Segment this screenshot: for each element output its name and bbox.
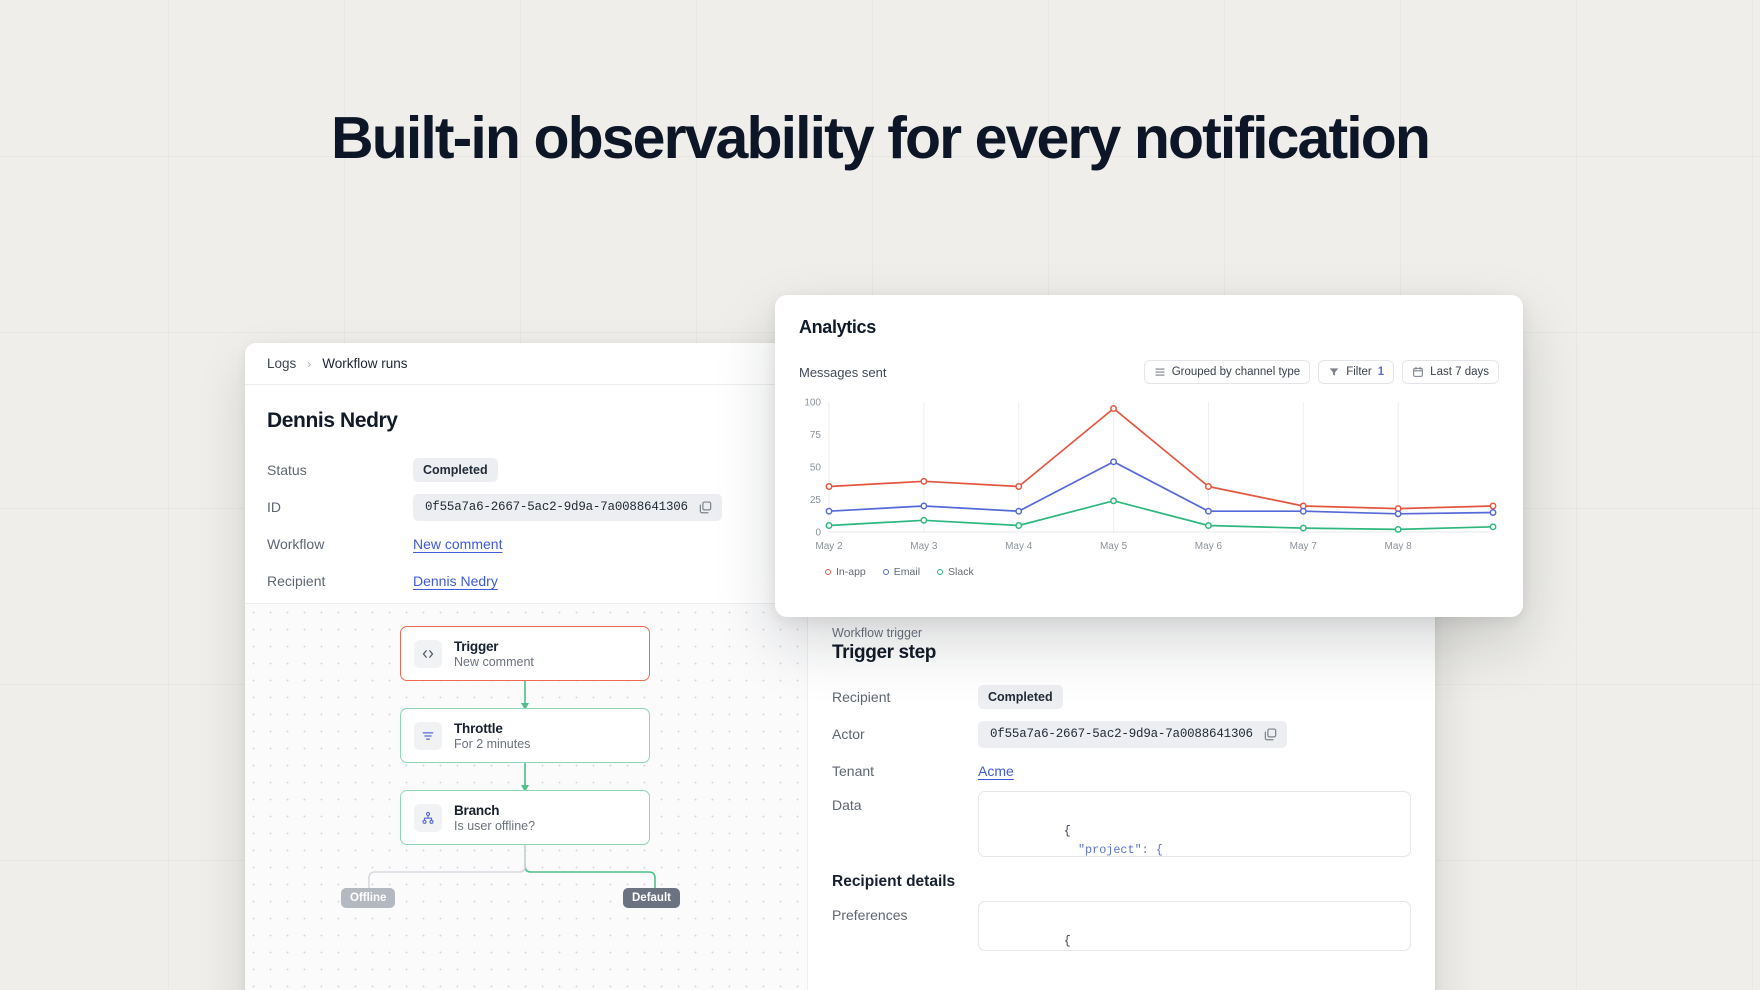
x-axis-tick: May 3 [910, 541, 938, 552]
data-json-line: "project": { [1064, 843, 1163, 857]
detail-field-recipient: Recipient Completed [832, 680, 1411, 714]
field-label: Recipient [267, 573, 413, 589]
messages-sent-line-chart[interactable]: 0255075100May 2May 3May 4May 5May 6May 7… [799, 392, 1499, 562]
workflow-node-throttle[interactable]: Throttle For 2 minutes [400, 708, 650, 763]
detail-field-data: Data { "project": { "name": "Security re… [832, 791, 1411, 857]
detail-field-actor: Actor 0f55a7a6-2667-5ac2-9d9a-7a00886413… [832, 717, 1411, 751]
field-label: Tenant [832, 763, 978, 779]
legend-item-email[interactable]: Email [883, 566, 920, 578]
step-detail-pane: Workflow trigger Trigger step Recipient … [808, 604, 1435, 990]
x-axis-tick: May 6 [1195, 541, 1223, 552]
node-subtitle: For 2 minutes [454, 737, 530, 751]
data-point[interactable] [1206, 509, 1211, 514]
legend-label: Slack [948, 566, 974, 578]
recipient-link[interactable]: Dennis Nedry [413, 573, 498, 589]
logs-split: Trigger New comment Throttle For 2 minut… [245, 603, 1435, 990]
workflow-canvas[interactable]: Trigger New comment Throttle For 2 minut… [245, 604, 808, 990]
analytics-card: Analytics Messages sent Grouped by chann… [775, 295, 1523, 617]
group-by-button[interactable]: Grouped by channel type [1144, 360, 1311, 384]
data-json-line: { [1064, 824, 1071, 838]
status-badge: Completed [978, 685, 1063, 709]
detail-title: Trigger step [832, 642, 1411, 664]
workflow-link[interactable]: New comment [413, 536, 502, 552]
data-point[interactable] [1016, 523, 1021, 528]
data-point[interactable] [1490, 510, 1495, 515]
date-range-button[interactable]: Last 7 days [1402, 360, 1499, 384]
data-point[interactable] [1206, 484, 1211, 489]
data-point[interactable] [921, 503, 926, 508]
copy-icon[interactable] [1263, 727, 1278, 742]
node-subtitle: New comment [454, 655, 534, 669]
branch-badge-default[interactable]: Default [623, 888, 680, 908]
data-point[interactable] [1016, 509, 1021, 514]
legend-label: Email [894, 566, 920, 578]
field-label: Recipient [832, 689, 978, 705]
series-line-slack [829, 501, 1493, 530]
branch-badge-offline[interactable]: Offline [341, 888, 395, 908]
y-axis-tick: 25 [810, 495, 822, 506]
date-range-label: Last 7 days [1430, 366, 1489, 378]
legend-dot [937, 569, 943, 575]
analytics-toolbar: Messages sent Grouped by channel type Fi… [799, 360, 1499, 384]
detail-eyebrow: Workflow trigger [832, 626, 1411, 640]
page-headline: Built-in observability for every notific… [0, 108, 1760, 170]
legend-label: In-app [836, 566, 866, 578]
filter-count: 1 [1378, 366, 1384, 378]
data-point[interactable] [1395, 527, 1400, 532]
node-title: Branch [454, 803, 535, 818]
legend-item-slack[interactable]: Slack [937, 566, 974, 578]
code-icon [414, 640, 442, 668]
data-point[interactable] [1111, 406, 1116, 411]
filter-icon [414, 722, 442, 750]
id-value-field[interactable]: 0f55a7a6-2667-5ac2-9d9a-7a0088641306 [413, 494, 722, 521]
data-point[interactable] [1301, 509, 1306, 514]
data-point[interactable] [1111, 498, 1116, 503]
analytics-title: Analytics [799, 317, 1499, 338]
list-icon [1154, 366, 1166, 378]
detail-field-tenant: Tenant Acme [832, 754, 1411, 788]
data-point[interactable] [826, 484, 831, 489]
group-by-label: Grouped by channel type [1172, 366, 1301, 378]
x-axis-tick: May 5 [1100, 541, 1128, 552]
recipient-details-title: Recipient details [832, 873, 1411, 891]
workflow-node-trigger[interactable]: Trigger New comment [400, 626, 650, 681]
x-axis-tick: May 8 [1385, 541, 1413, 552]
node-title: Trigger [454, 639, 534, 654]
actor-value: 0f55a7a6-2667-5ac2-9d9a-7a0088641306 [990, 727, 1253, 741]
field-label: ID [267, 499, 413, 515]
data-point[interactable] [1301, 525, 1306, 530]
series-line-in-app [829, 409, 1493, 509]
data-point[interactable] [1206, 523, 1211, 528]
data-point[interactable] [1490, 524, 1495, 529]
tenant-link[interactable]: Acme [978, 763, 1014, 779]
data-point[interactable] [921, 518, 926, 523]
node-subtitle: Is user offline? [454, 819, 535, 833]
preferences-json-block[interactable]: { "channel_types": { [978, 901, 1411, 951]
actor-value-field[interactable]: 0f55a7a6-2667-5ac2-9d9a-7a0088641306 [978, 721, 1287, 748]
toolbar-buttons: Grouped by channel type Filter 1 Last 7 … [1144, 360, 1499, 384]
branch-icon [414, 804, 442, 832]
filter-button[interactable]: Filter 1 [1318, 360, 1394, 384]
field-label: Preferences [832, 901, 978, 923]
data-point[interactable] [826, 509, 831, 514]
y-axis-tick: 75 [810, 430, 822, 441]
breadcrumb-workflow-runs[interactable]: Workflow runs [322, 356, 407, 371]
workflow-node-branch[interactable]: Branch Is user offline? [400, 790, 650, 845]
x-axis-tick: May 7 [1290, 541, 1318, 552]
legend-item-in-app[interactable]: In-app [825, 566, 866, 578]
status-badge: Completed [413, 458, 498, 482]
y-axis-tick: 100 [804, 398, 821, 409]
y-axis-tick: 0 [815, 528, 821, 539]
data-json-block[interactable]: { "project": { "name": "Security review"… [978, 791, 1411, 857]
chevron-right-icon: › [307, 357, 311, 371]
chart-legend: In-appEmailSlack [799, 566, 1499, 578]
data-point[interactable] [1111, 459, 1116, 464]
node-title: Throttle [454, 721, 530, 736]
field-label: Workflow [267, 536, 413, 552]
calendar-icon [1412, 366, 1424, 378]
chart-label: Messages sent [799, 365, 886, 380]
field-label: Data [832, 791, 978, 813]
chart-wrap: 0255075100May 2May 3May 4May 5May 6May 7… [799, 392, 1499, 562]
data-point[interactable] [1490, 503, 1495, 508]
legend-dot [883, 569, 889, 575]
field-label: Status [267, 462, 413, 478]
data-point[interactable] [1395, 511, 1400, 516]
filter-label: Filter [1346, 366, 1372, 378]
legend-dot [825, 569, 831, 575]
breadcrumb-logs[interactable]: Logs [267, 356, 296, 371]
funnel-icon [1328, 366, 1340, 378]
data-point[interactable] [921, 479, 926, 484]
y-axis-tick: 50 [810, 463, 822, 474]
x-axis-tick: May 4 [1005, 541, 1033, 552]
copy-icon[interactable] [698, 500, 713, 515]
field-label: Actor [832, 726, 978, 742]
detail-field-preferences: Preferences { "channel_types": { [832, 901, 1411, 951]
data-point[interactable] [826, 523, 831, 528]
data-point[interactable] [1016, 484, 1021, 489]
status-badge-wrap: Completed [413, 458, 498, 482]
series-line-email [829, 462, 1493, 514]
id-value: 0f55a7a6-2667-5ac2-9d9a-7a0088641306 [425, 500, 688, 514]
prefs-json-line: { [1064, 934, 1071, 948]
x-axis-tick: May 2 [815, 541, 843, 552]
